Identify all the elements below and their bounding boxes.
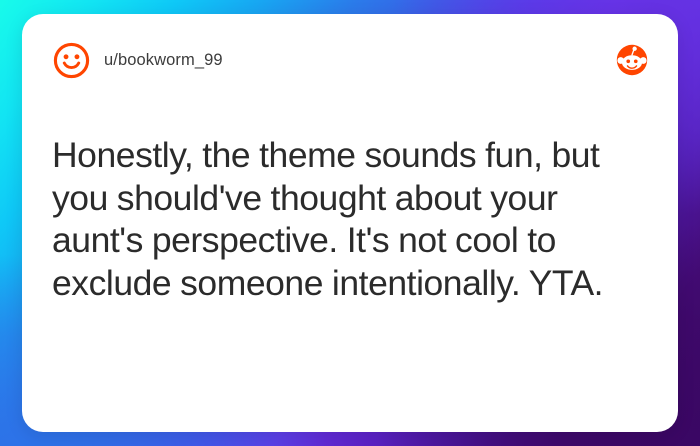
comment-body-text: Honestly, the theme sounds fun, but you … bbox=[52, 134, 648, 304]
screenshot-stage: u/bookworm_99 bbox=[0, 0, 700, 446]
smiley-face-icon bbox=[52, 41, 91, 80]
avatar[interactable] bbox=[52, 41, 91, 80]
comment-header: u/bookworm_99 bbox=[52, 38, 648, 82]
brand-logo[interactable] bbox=[616, 44, 648, 76]
reddit-snoo-icon bbox=[616, 44, 648, 76]
comment-card: u/bookworm_99 bbox=[22, 14, 678, 432]
author-username[interactable]: u/bookworm_99 bbox=[104, 51, 223, 70]
